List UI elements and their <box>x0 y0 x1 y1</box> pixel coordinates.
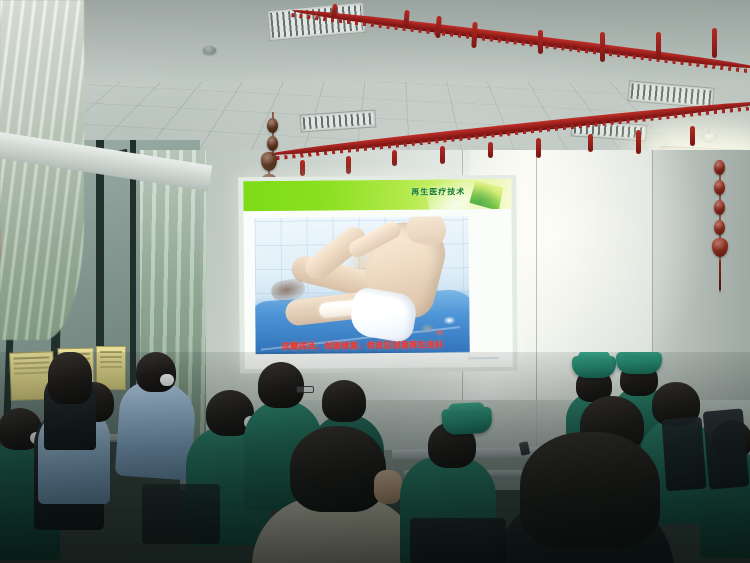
slide-title: 再生医疗技术 <box>411 186 465 197</box>
conference-chair[interactable] <box>142 484 220 544</box>
garland-tassel <box>538 30 543 54</box>
garland-tassel <box>690 126 695 146</box>
garland-tassel <box>712 28 717 58</box>
face-mask-icon <box>160 374 174 386</box>
garland-tassel <box>488 142 493 158</box>
conference-room-scene: 再生医疗技术 皮瓣成活，创面修复，供皮区创面再生良好 xxxxxxxxxx <box>0 0 750 563</box>
slide-header-band: 再生医疗技术 <box>243 179 511 211</box>
eyeglasses-icon <box>296 386 314 393</box>
conference-chair[interactable] <box>410 518 506 563</box>
strand-tail <box>719 260 721 290</box>
garland-tassel <box>440 146 445 164</box>
ornament-bead-icon <box>714 220 725 235</box>
ornament-bead-icon <box>712 238 728 257</box>
conference-chair[interactable] <box>662 417 707 492</box>
nurse-cap-icon <box>572 356 616 378</box>
mobile-phone-icon[interactable] <box>519 441 531 456</box>
gourd-ornament-icon <box>267 136 278 151</box>
nurse-cap-icon <box>616 352 662 374</box>
garland-tassel <box>600 32 605 62</box>
gourd-strand-left-upper <box>265 112 281 156</box>
slide-clinical-photo <box>255 216 470 354</box>
garland-tassel <box>656 32 661 60</box>
window-curtain-left <box>0 0 84 340</box>
garland-tassel <box>536 138 541 158</box>
projection-screen: 再生医疗技术 皮瓣成活，创面修复，供皮区创面再生良好 xxxxxxxxxx <box>238 175 518 373</box>
garland-tassel <box>346 156 351 174</box>
ornament-bead-icon <box>714 160 725 175</box>
conference-chair[interactable] <box>703 408 750 489</box>
garland-tassel <box>392 150 397 166</box>
gourd-ornament-icon <box>267 118 278 133</box>
garland-tassel <box>300 160 305 176</box>
garland-tassel <box>588 134 593 152</box>
slide-caption: 皮瓣成活，创面修复，供皮区创面再生良好 <box>256 339 470 352</box>
nurse-cap-icon <box>441 407 492 436</box>
medical-supplies <box>419 310 463 338</box>
garland-tassel <box>636 130 641 154</box>
ornament-bead-icon <box>714 180 725 195</box>
ornament-bead-icon <box>714 200 725 215</box>
projected-slide: 再生医疗技术 皮瓣成活，创面修复，供皮区创面再生良好 xxxxxxxxxx <box>243 179 513 369</box>
audience-area <box>0 352 750 563</box>
smoke-detector-icon <box>203 46 216 54</box>
ornament-strand-right <box>712 160 728 292</box>
